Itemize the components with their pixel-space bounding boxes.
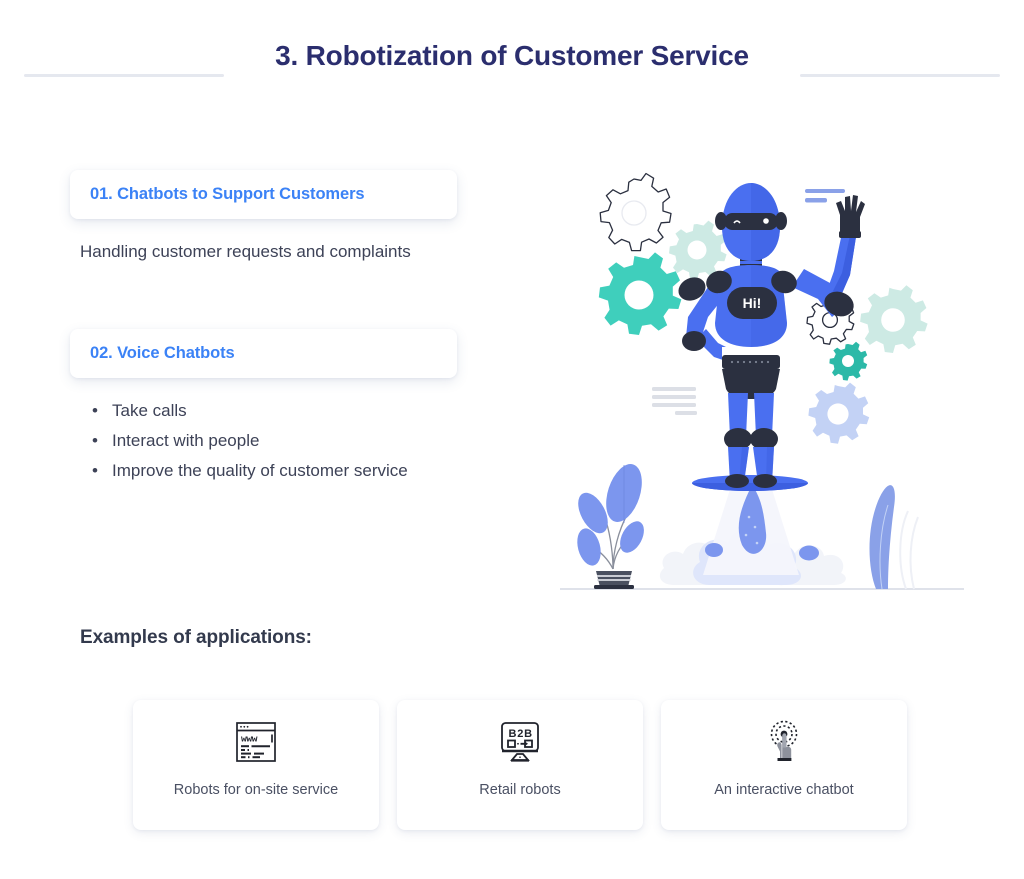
example-card-retail-robots[interactable]: B2B Retail robots	[397, 700, 643, 830]
robot-legs	[724, 393, 778, 488]
monitor-b2b-icon: B2B	[492, 714, 548, 770]
header: 3. Robotization of Customer Service	[0, 0, 1024, 130]
gear-outline-large	[600, 174, 671, 251]
grass-blade	[870, 485, 919, 589]
browser-www-icon: www	[228, 714, 284, 770]
feature-block-02: 02. Voice Chatbots Take calls Interact w…	[0, 329, 520, 486]
feature-card-01[interactable]: 01. Chatbots to Support Customers	[70, 170, 457, 219]
gear-periwinkle	[808, 383, 869, 444]
tap-hand-icon	[756, 714, 812, 770]
feature-card-02[interactable]: 02. Voice Chatbots	[70, 329, 457, 378]
robot-eye	[763, 218, 769, 224]
robot-arm-right-waving	[792, 195, 865, 320]
robot-chest-text: Hi!	[743, 295, 762, 311]
svg-text:B2B: B2B	[509, 728, 533, 740]
feature-02-bullet-list: Take calls Interact with people Improve …	[80, 396, 480, 486]
list-item: Interact with people	[80, 426, 480, 456]
robot-head	[715, 183, 787, 261]
waving-robot-illustration: Hi!	[556, 165, 968, 595]
feature-01-body: Handling customer requests and complaint…	[80, 237, 460, 267]
page-title: 3. Robotization of Customer Service	[262, 38, 762, 74]
robot-hand	[836, 195, 865, 238]
gear-mint-large	[860, 285, 928, 353]
feature-card-01-label: 01. Chatbots to Support Customers	[70, 185, 364, 204]
plant-leaf	[615, 517, 649, 556]
gear-teal-small	[829, 342, 867, 381]
example-card-robots-on-site[interactable]: www Robots for on-site service	[133, 700, 379, 830]
example-cards-row: www Robots for on-site service	[133, 700, 909, 830]
feature-block-01: 01. Chatbots to Support Customers Handli…	[0, 170, 520, 267]
text-bars-top	[805, 189, 845, 203]
examples-heading: Examples of applications:	[80, 627, 312, 649]
list-item: Improve the quality of customer service	[80, 456, 480, 486]
header-rule-left-decoration	[24, 74, 224, 77]
hover-platform	[692, 475, 808, 491]
slide-root: 3. Robotization of Customer Service 01. …	[0, 0, 1024, 879]
example-card-label: Retail robots	[479, 782, 560, 798]
potted-plant	[572, 460, 649, 589]
example-card-interactive-chatbot[interactable]: An interactive chatbot	[661, 700, 907, 830]
header-rule-right-decoration	[800, 74, 1000, 77]
list-item: Take calls	[80, 396, 480, 426]
feature-card-02-label: 02. Voice Chatbots	[70, 344, 235, 363]
gear-teal-large	[599, 252, 682, 335]
example-card-label: Robots for on-site service	[174, 782, 338, 798]
gear-mint-small	[669, 221, 727, 280]
robot-visor	[724, 213, 778, 230]
svg-text:www: www	[241, 734, 258, 745]
robot-torso: Hi!	[703, 265, 800, 399]
cloud-exhaust	[660, 483, 846, 585]
example-card-label: An interactive chatbot	[714, 782, 853, 798]
text-bars-left	[652, 387, 697, 415]
left-content-column: 01. Chatbots to Support Customers Handli…	[0, 170, 520, 486]
